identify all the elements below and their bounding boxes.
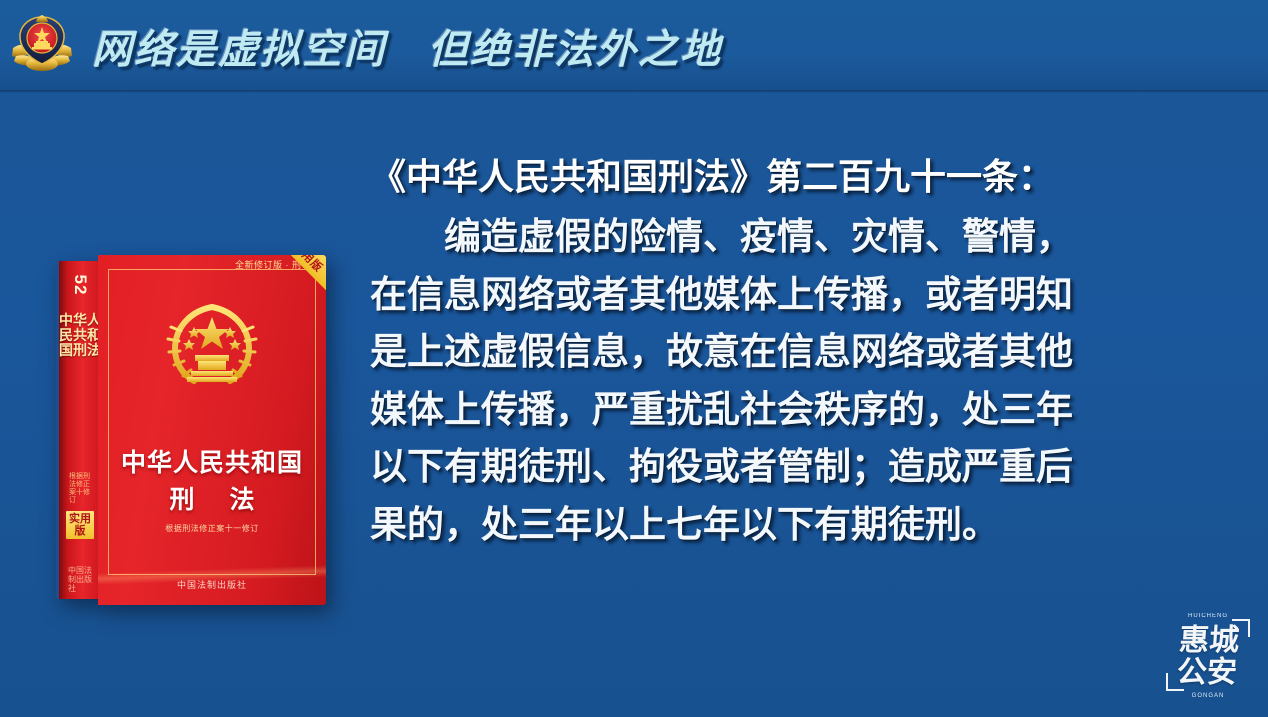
book-cover-subtitle: 根据刑法修正案十一修订 <box>98 523 326 534</box>
law-article-line: 果的，处三年以上七年以下有期徒刑。 <box>370 496 1250 554</box>
slide-canvas: 网络是虚拟空间 但绝非法外之地 52 中华人民共和国刑法 根据刑法修正案十修订 … <box>0 0 1268 717</box>
book-cover-publisher: 中国法制出版社 <box>98 578 326 591</box>
book-cover-title-line1: 中华人民共和国 <box>98 443 326 479</box>
law-article-line: 编造虚假的险情、疫情、灾情、警情， <box>370 208 1250 266</box>
watermark-bracket-bottom-left <box>1166 673 1184 691</box>
book-spine-publisher: 中国法制出版社 <box>68 566 92 593</box>
law-article-line: 以下有期徒刑、拘役或者管制；造成严重后 <box>370 438 1250 496</box>
law-article-heading: 《中华人民共和国刑法》第二百九十一条： <box>370 148 1250 200</box>
book-front-cover: 全新修订版 · 刑 法 实用版 <box>98 255 326 605</box>
watermark-pinyin-bottom: GONGAN <box>1160 693 1256 699</box>
book-spine: 52 中华人民共和国刑法 根据刑法修正案十修订 实用版 中国法制出版社 <box>56 261 98 599</box>
law-article-line: 是上述虚假信息，故意在信息网络或者其他 <box>370 323 1250 381</box>
header-divider <box>0 90 1268 93</box>
law-article-block: 《中华人民共和国刑法》第二百九十一条： 编造虚假的险情、疫情、灾情、警情， 在信… <box>370 148 1250 553</box>
book-cover-title-line2: 刑 法 <box>98 480 326 516</box>
national-emblem-icon <box>161 301 263 397</box>
watermark-logo: HUICHENG 惠城公安 GONGAN <box>1160 609 1256 705</box>
book-spine-title: 中华人民共和国刑法 <box>59 313 98 358</box>
book-spine-tag: 实用版 <box>66 511 94 539</box>
header-banner: 网络是虚拟空间 但绝非法外之地 <box>0 0 1268 92</box>
law-article-line: 媒体上传播，严重扰乱社会秩序的，处三年 <box>370 381 1250 439</box>
header-slogan: 网络是虚拟空间 但绝非法外之地 <box>92 17 722 75</box>
book-spine-subtitle: 根据刑法修正案十修订 <box>69 473 91 505</box>
book-spine-number: 52 <box>70 264 90 306</box>
police-badge-icon <box>8 12 76 80</box>
criminal-law-book-image: 52 中华人民共和国刑法 根据刑法修正案十修订 实用版 中国法制出版社 全新修订… <box>56 255 326 605</box>
law-article-body: 编造虚假的险情、疫情、灾情、警情， 在信息网络或者其他媒体上传播，或者明知 是上… <box>370 208 1250 553</box>
law-article-line: 在信息网络或者其他媒体上传播，或者明知 <box>370 266 1250 324</box>
